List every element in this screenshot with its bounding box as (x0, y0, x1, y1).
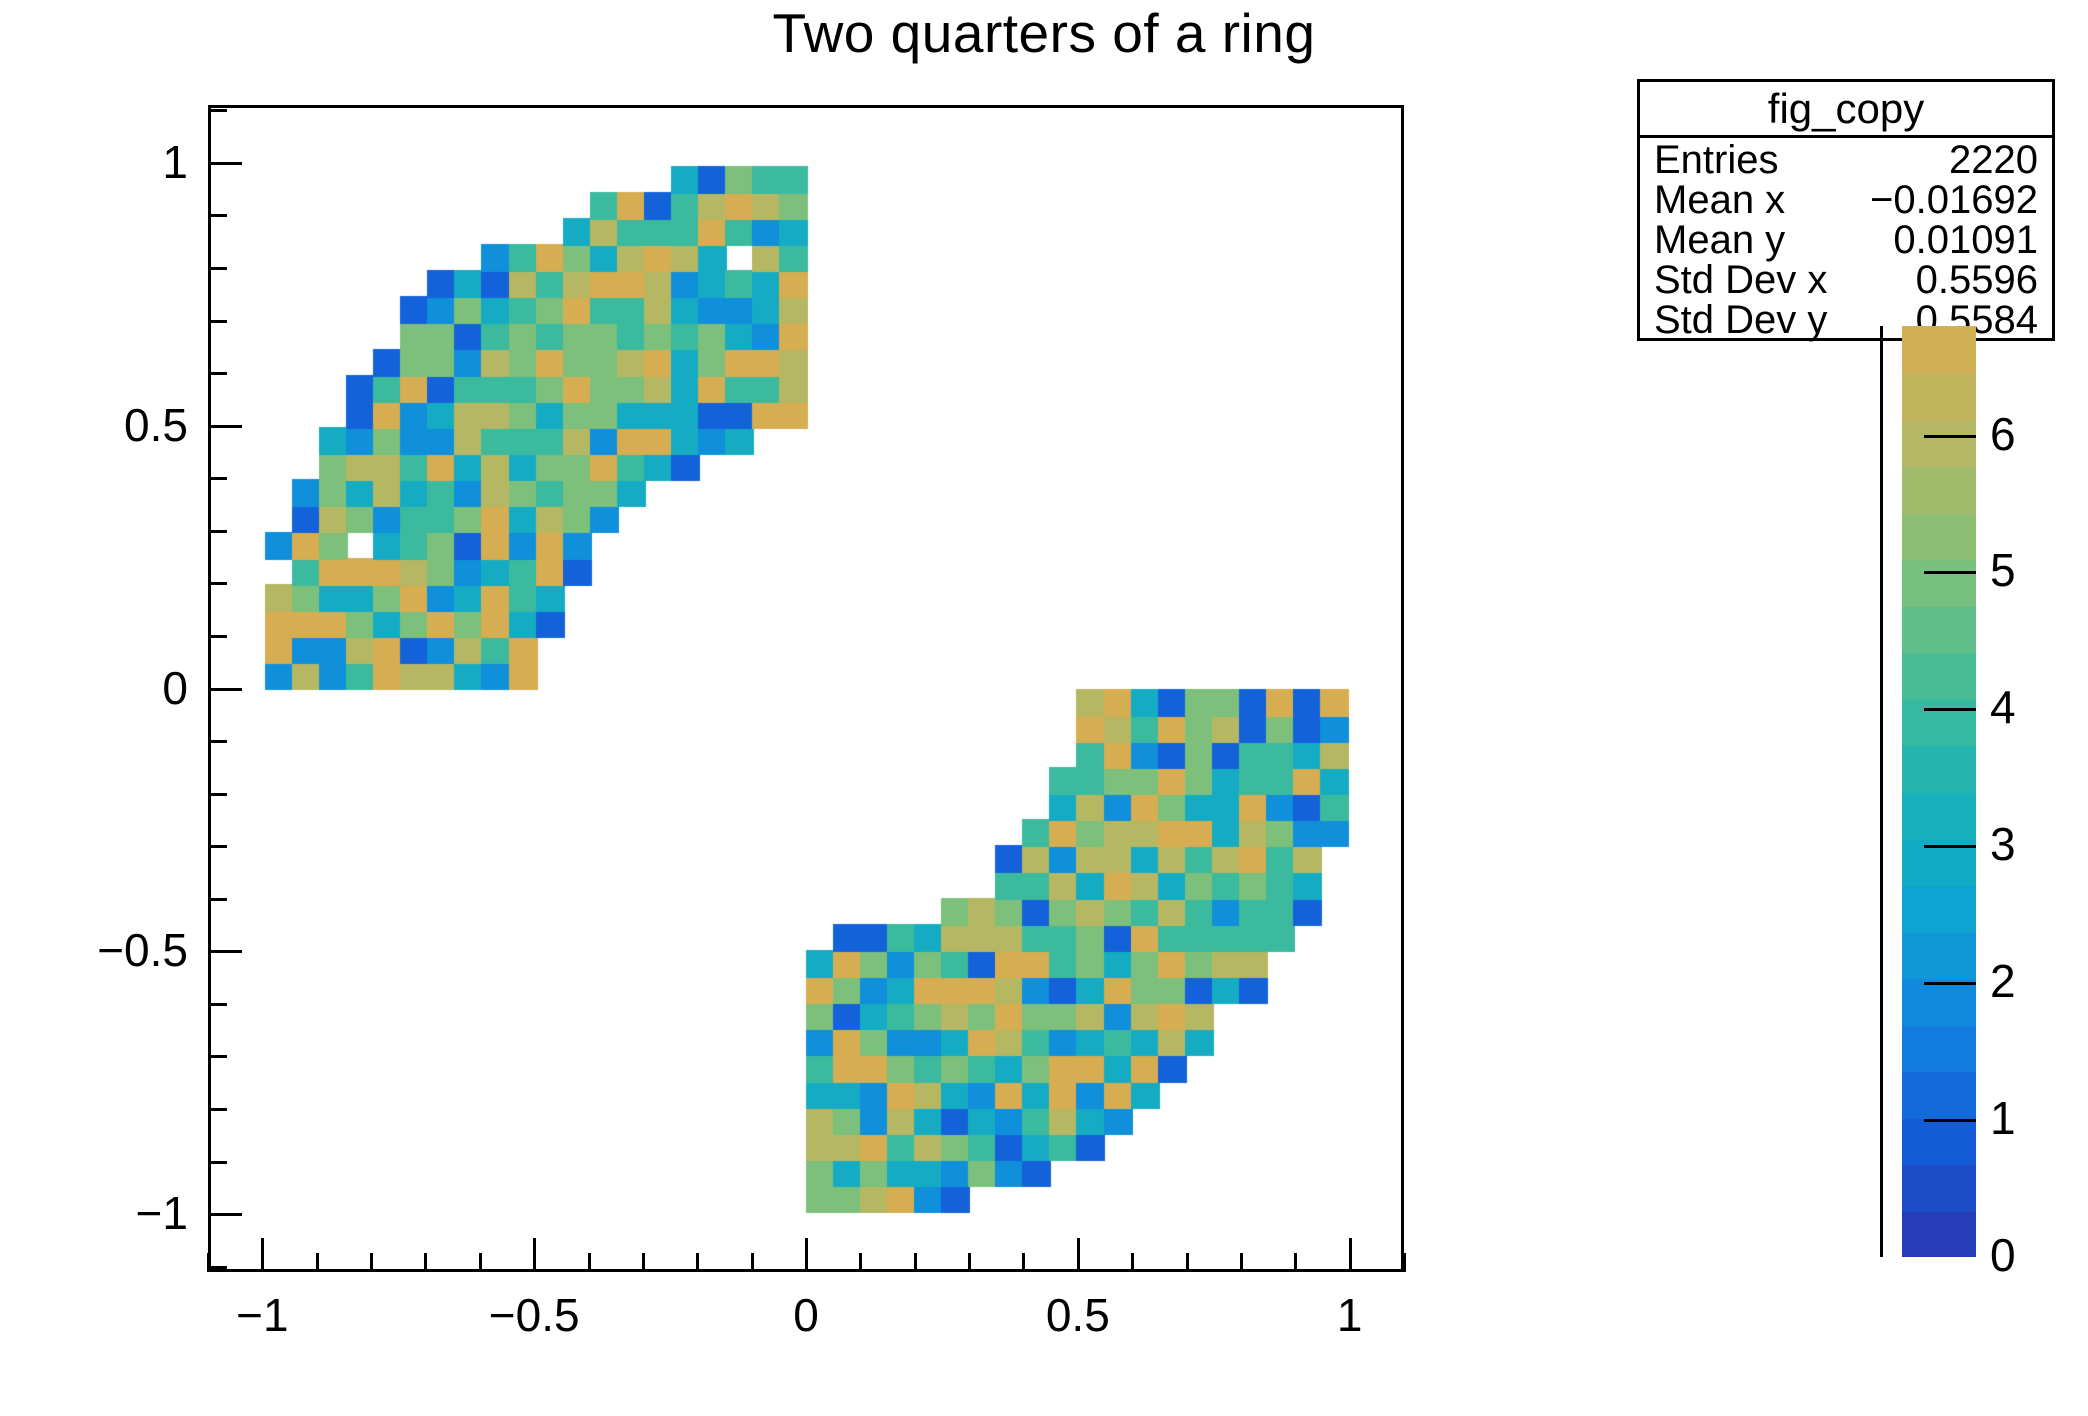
x-axis-minor-tick (696, 1253, 699, 1272)
y-axis-minor-tick (208, 372, 227, 375)
y-axis-minor-tick (208, 320, 227, 323)
x-axis-minor-tick (424, 1253, 427, 1272)
x-axis-major-tick (1077, 1238, 1080, 1272)
y-axis-minor-tick (208, 477, 227, 480)
y-axis-minor-tick (208, 214, 227, 217)
x-axis-minor-tick (1240, 1253, 1243, 1272)
colorbar-tick-label: 4 (1990, 684, 2016, 730)
y-axis-minor-tick (208, 740, 227, 743)
y-axis-minor-tick (208, 267, 227, 270)
colorbar-tick-label: 3 (1990, 821, 2016, 867)
colorbar-tick-label: 0 (1990, 1232, 2016, 1278)
x-axis-tick-label: 0.5 (978, 1292, 1178, 1338)
y-axis-tick-label: 0 (28, 665, 188, 711)
x-axis-major-tick (805, 1238, 808, 1272)
x-axis-minor-tick (479, 1253, 482, 1272)
table-row: Mean y 0.01091 (1654, 220, 2038, 260)
y-axis-minor-tick (208, 1003, 227, 1006)
y-axis-minor-tick (208, 582, 227, 585)
statistics-box: fig_copy Entries 2220 Mean x −0.01692 Me… (1637, 79, 2055, 341)
y-axis-minor-tick (208, 530, 227, 533)
stat-value: 0.5596 (1916, 260, 2038, 300)
x-axis-minor-tick (316, 1253, 319, 1272)
table-row: Entries 2220 (1654, 140, 2038, 180)
y-axis-minor-tick (208, 793, 227, 796)
colorbar-tick (1924, 435, 1976, 438)
stat-key: Std Dev x (1654, 260, 1827, 300)
x-axis-major-tick (533, 1238, 536, 1272)
y-axis-minor-tick (208, 109, 227, 112)
x-axis-minor-tick (1403, 1253, 1406, 1272)
stat-key: Mean x (1654, 180, 1785, 220)
x-axis-tick-label: −1 (162, 1292, 362, 1338)
x-axis-minor-tick (859, 1253, 862, 1272)
y-axis-major-tick (208, 1213, 242, 1216)
colorbar-canvas (1902, 326, 1976, 1257)
y-axis-tick-label: −1 (28, 1190, 188, 1236)
y-axis-minor-tick (208, 635, 227, 638)
y-axis-major-tick (208, 425, 242, 428)
x-axis-minor-tick (642, 1253, 645, 1272)
x-axis-minor-tick (968, 1253, 971, 1272)
x-axis-tick-label: 0 (706, 1292, 906, 1338)
x-axis-minor-tick (588, 1253, 591, 1272)
root-canvas: Two quarters of a ring −1−0.500.51−1−0.5… (0, 0, 2088, 1416)
y-axis-major-tick (208, 162, 242, 165)
y-axis-tick-label: 0.5 (28, 402, 188, 448)
colorbar-tick-label: 1 (1990, 1095, 2016, 1141)
colorbar-tick (1924, 982, 1976, 985)
x-axis-tick-label: −0.5 (434, 1292, 634, 1338)
y-axis-major-tick (208, 688, 242, 691)
colorbar-tick (1924, 708, 1976, 711)
y-axis-tick-label: −0.5 (28, 927, 188, 973)
plot-frame (208, 105, 1404, 1272)
x-axis-minor-tick (207, 1253, 210, 1272)
table-row: Std Dev x 0.5596 (1654, 260, 2038, 300)
colorbar-tick-label: 6 (1990, 411, 2016, 457)
colorbar-tick-label: 5 (1990, 547, 2016, 593)
statistics-title: fig_copy (1640, 82, 2052, 138)
stat-key: Std Dev y (1654, 300, 1827, 340)
x-axis-major-tick (1349, 1238, 1352, 1272)
colorbar-axis-line (1880, 326, 1883, 1257)
y-axis-minor-tick (208, 1161, 227, 1164)
stat-value: −0.01692 (1870, 180, 2038, 220)
x-axis-tick-label: 1 (1250, 1292, 1450, 1338)
x-axis-minor-tick (751, 1253, 754, 1272)
stat-value: 0.01091 (1893, 220, 2038, 260)
statistics-rows: Entries 2220 Mean x −0.01692 Mean y 0.01… (1640, 138, 2052, 340)
y-axis-minor-tick (208, 845, 227, 848)
colorbar-tick (1924, 845, 1976, 848)
x-axis-minor-tick (1131, 1253, 1134, 1272)
y-axis-minor-tick (208, 898, 227, 901)
x-axis-minor-tick (1022, 1253, 1025, 1272)
page-title: Two quarters of a ring (0, 6, 2088, 61)
stat-key: Mean y (1654, 220, 1785, 260)
y-axis-tick-label: 1 (28, 139, 188, 185)
colorbar-tick (1924, 1119, 1976, 1122)
stat-value: 2220 (1949, 140, 2038, 180)
y-axis-major-tick (208, 950, 242, 953)
colorbar-tick-label: 2 (1990, 958, 2016, 1004)
x-axis-minor-tick (1294, 1253, 1297, 1272)
x-axis-minor-tick (370, 1253, 373, 1272)
x-axis-minor-tick (914, 1253, 917, 1272)
y-axis-minor-tick (208, 1055, 227, 1058)
stat-key: Entries (1654, 140, 1779, 180)
colorbar (1902, 326, 1976, 1257)
y-axis-minor-tick (208, 1108, 227, 1111)
histogram-canvas (211, 108, 1401, 1269)
colorbar-tick (1924, 571, 1976, 574)
x-axis-major-tick (261, 1238, 264, 1272)
y-axis-minor-tick (208, 1266, 227, 1269)
table-row: Mean x −0.01692 (1654, 180, 2038, 220)
table-row: Std Dev y 0.5584 (1654, 300, 2038, 340)
x-axis-minor-tick (1186, 1253, 1189, 1272)
